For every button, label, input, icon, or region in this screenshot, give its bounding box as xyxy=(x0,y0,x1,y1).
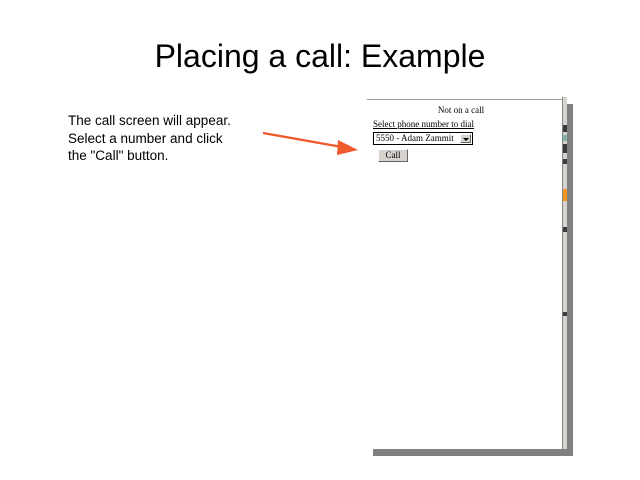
scrollbar-mark xyxy=(563,125,567,132)
embedded-app-screenshot: Not on a call Select phone number to dia… xyxy=(367,97,567,449)
scrollbar-mark xyxy=(563,144,567,153)
browser-content-area: Not on a call Select phone number to dia… xyxy=(367,97,567,449)
vertical-scrollbar[interactable] xyxy=(562,97,567,449)
body-text-line: the "Call" button. xyxy=(68,147,278,165)
scrollbar-mark xyxy=(563,312,567,316)
toolbar-separator xyxy=(367,99,563,100)
body-text-line: Select a number and click xyxy=(68,130,278,148)
phone-number-select-value: 5550 - Adam Zammit xyxy=(376,133,454,144)
slide-body-text: The call screen will appear. Select a nu… xyxy=(68,112,278,165)
scrollbar-mark xyxy=(563,159,567,164)
scrollbar-mark xyxy=(563,189,567,201)
dropdown-button[interactable] xyxy=(460,134,471,143)
page-title: Placing a call: Example xyxy=(0,37,640,75)
dial-number-label: Select phone number to dial xyxy=(373,118,559,130)
scrollbar-mark xyxy=(563,135,567,141)
call-status-text: Not on a call xyxy=(367,104,559,116)
call-screen: Not on a call Select phone number to dia… xyxy=(367,101,559,163)
body-text-line: The call screen will appear. xyxy=(68,112,278,130)
chevron-down-icon xyxy=(463,138,469,141)
scrollbar-mark xyxy=(563,227,567,232)
presentation-slide: Placing a call: Example The call screen … xyxy=(0,0,640,480)
call-button[interactable]: Call xyxy=(378,149,408,162)
phone-number-select[interactable]: 5550 - Adam Zammit xyxy=(373,132,473,145)
